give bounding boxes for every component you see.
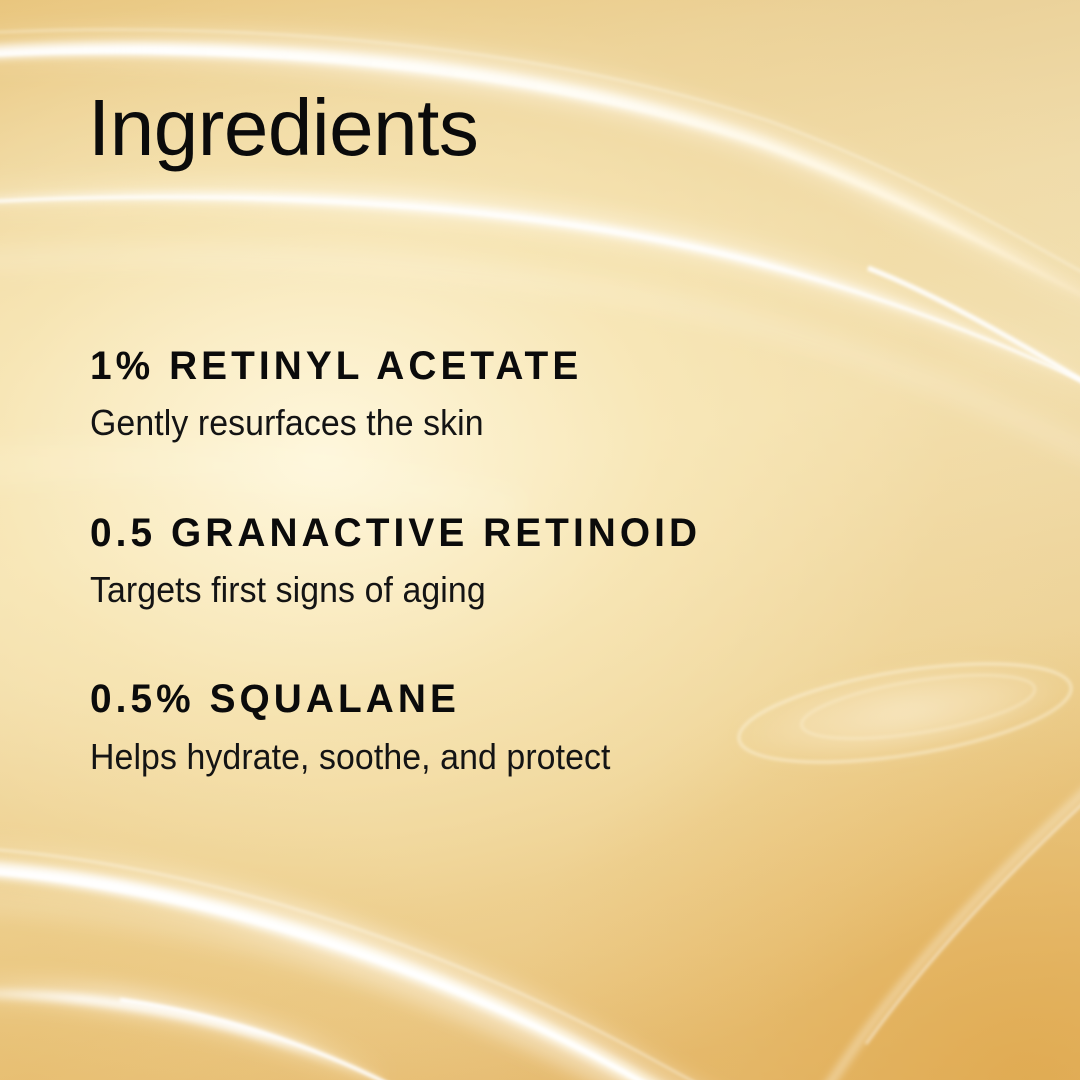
ingredient-item-retinyl-acetate: 1% RETINYL ACETATE Gently resurfaces the… [90, 345, 970, 444]
ingredient-item-granactive-retinoid: 0.5 GRANACTIVE RETINOID Targets first si… [90, 512, 970, 611]
ingredient-item-squalane: 0.5% SQUALANE Helps hydrate, soothe, and… [90, 678, 970, 777]
ingredient-name: 0.5% SQUALANE [90, 678, 944, 720]
ingredient-description: Helps hydrate, soothe, and protect [90, 737, 917, 777]
page-title: Ingredients [88, 88, 478, 168]
ingredient-name: 0.5 GRANACTIVE RETINOID [90, 512, 944, 554]
content-layer: Ingredients 1% RETINYL ACETATE Gently re… [0, 0, 1080, 1080]
ingredient-name: 1% RETINYL ACETATE [90, 345, 944, 387]
ingredient-description: Gently resurfaces the skin [90, 403, 917, 443]
ingredients-panel: Ingredients 1% RETINYL ACETATE Gently re… [0, 0, 1080, 1080]
ingredient-description: Targets first signs of aging [90, 570, 917, 610]
ingredient-list: 1% RETINYL ACETATE Gently resurfaces the… [90, 345, 970, 777]
